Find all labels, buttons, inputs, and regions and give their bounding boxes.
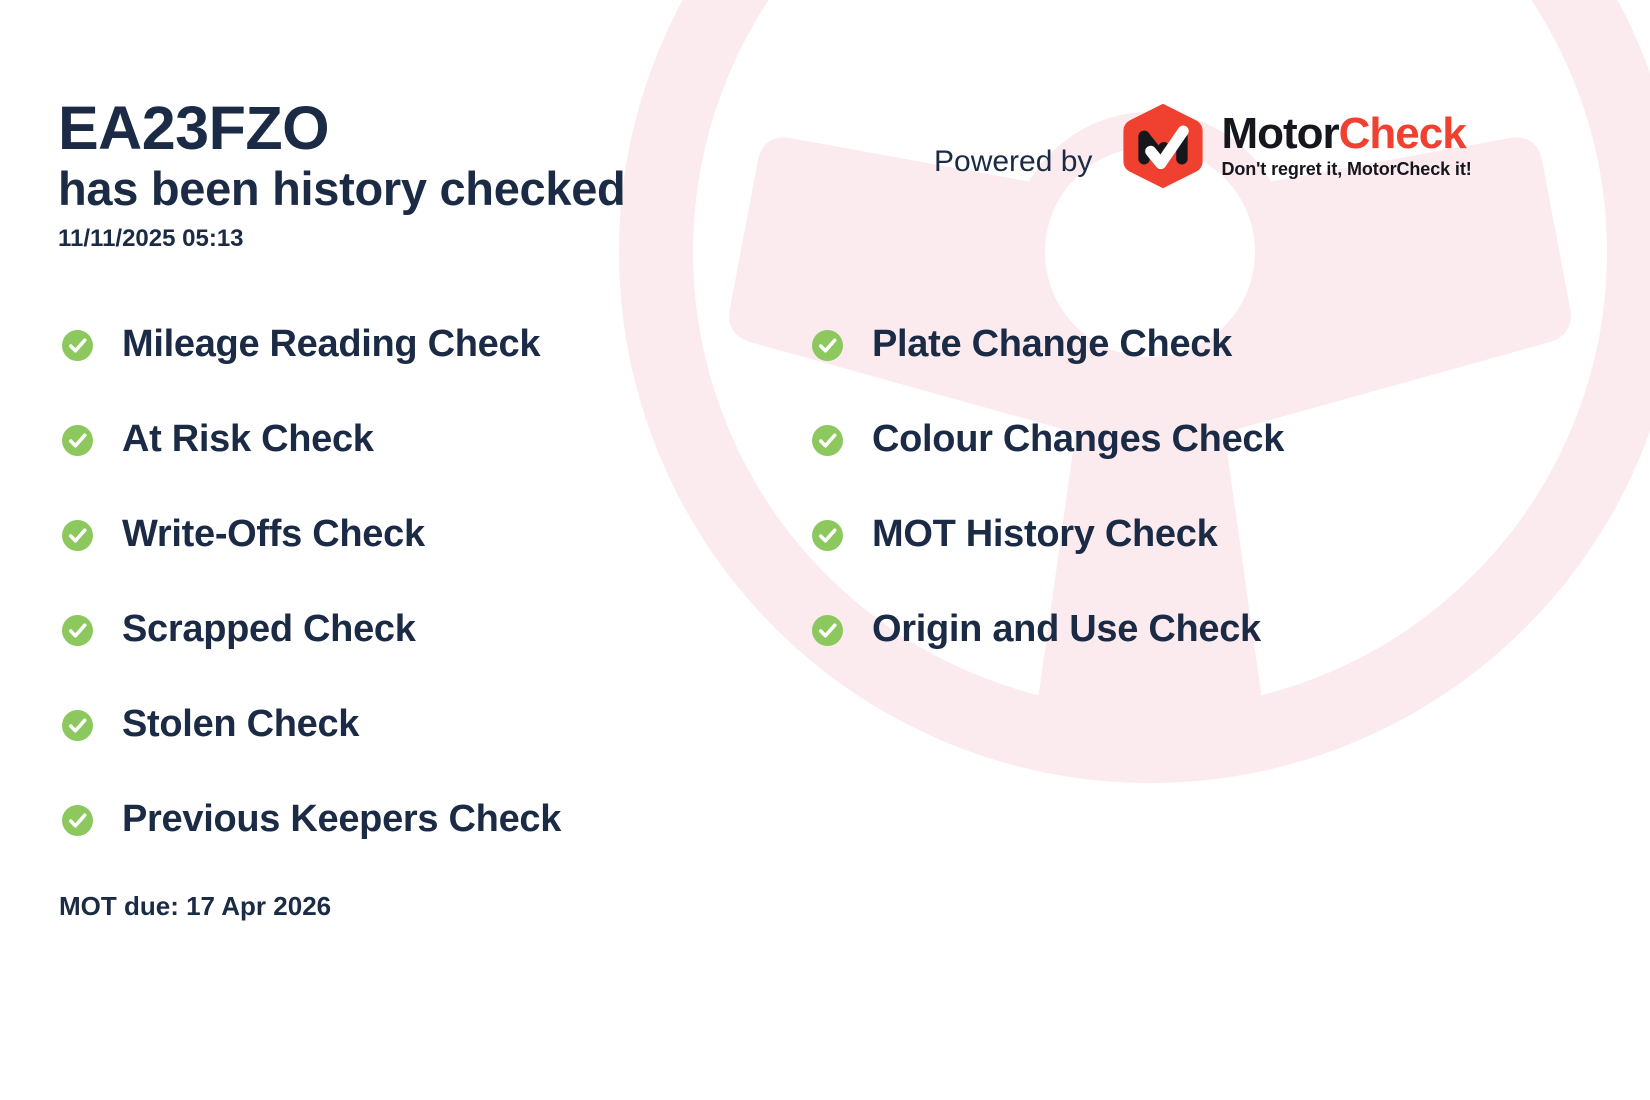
check-label: Colour Changes Check	[872, 420, 1284, 458]
check-label: Plate Change Check	[872, 325, 1232, 363]
checks-left-column: Mileage Reading Check At Risk Check Writ…	[62, 320, 561, 890]
powered-by-block: Powered by MotorCheck Don't regret it, M…	[934, 118, 1472, 206]
check-label: Previous Keepers Check	[122, 800, 561, 838]
check-circle-icon	[812, 615, 843, 646]
powered-by-label: Powered by	[934, 147, 1092, 177]
motorcheck-logo[interactable]: MotorCheck Don't regret it, MotorCheck i…	[1119, 102, 1471, 190]
check-list-item: Mileage Reading Check	[62, 320, 561, 368]
check-label: Mileage Reading Check	[122, 325, 540, 363]
mot-due-text: MOT due: 17 Apr 2026	[59, 891, 331, 922]
check-circle-icon	[62, 330, 93, 361]
logo-tagline: Don't regret it, MotorCheck it!	[1221, 159, 1471, 180]
registration-plate: EA23FZO	[58, 96, 625, 162]
check-list-item: MOT History Check	[812, 510, 1284, 558]
check-label: Scrapped Check	[122, 610, 416, 648]
check-label: Origin and Use Check	[872, 610, 1261, 648]
check-circle-icon	[62, 520, 93, 551]
header-block: EA23FZO has been history checked 11/11/2…	[58, 96, 625, 253]
check-list-item: At Risk Check	[62, 415, 561, 463]
check-circle-icon	[62, 425, 93, 456]
check-list-item: Previous Keepers Check	[62, 795, 561, 843]
motorcheck-hexagon-m-check-logo-icon	[1119, 102, 1207, 190]
check-circle-icon	[812, 520, 843, 551]
check-circle-icon	[62, 615, 93, 646]
check-circle-icon	[812, 330, 843, 361]
check-label: Write-Offs Check	[122, 515, 425, 553]
logo-wordmark: MotorCheck	[1221, 112, 1471, 156]
history-check-summary-card: EA23FZO has been history checked 11/11/2…	[0, 0, 1650, 1100]
check-list-item: Colour Changes Check	[812, 415, 1284, 463]
page-title: has been history checked	[58, 162, 625, 217]
check-label: Stolen Check	[122, 705, 359, 743]
check-label: MOT History Check	[872, 515, 1217, 553]
check-list-item: Scrapped Check	[62, 605, 561, 653]
logo-wordmark-motor: Motor	[1221, 109, 1338, 158]
check-circle-icon	[62, 805, 93, 836]
check-list-item: Plate Change Check	[812, 320, 1284, 368]
logo-wordmark-check: Check	[1339, 109, 1466, 158]
check-timestamp: 11/11/2025 05:13	[58, 225, 625, 253]
checks-right-column: Plate Change Check Colour Changes Check …	[812, 320, 1284, 700]
check-circle-icon	[62, 710, 93, 741]
check-label: At Risk Check	[122, 420, 374, 458]
logo-text-block: MotorCheck Don't regret it, MotorCheck i…	[1221, 112, 1471, 180]
check-list-item: Origin and Use Check	[812, 605, 1284, 653]
check-list-item: Stolen Check	[62, 700, 561, 748]
check-circle-icon	[812, 425, 843, 456]
check-list-item: Write-Offs Check	[62, 510, 561, 558]
